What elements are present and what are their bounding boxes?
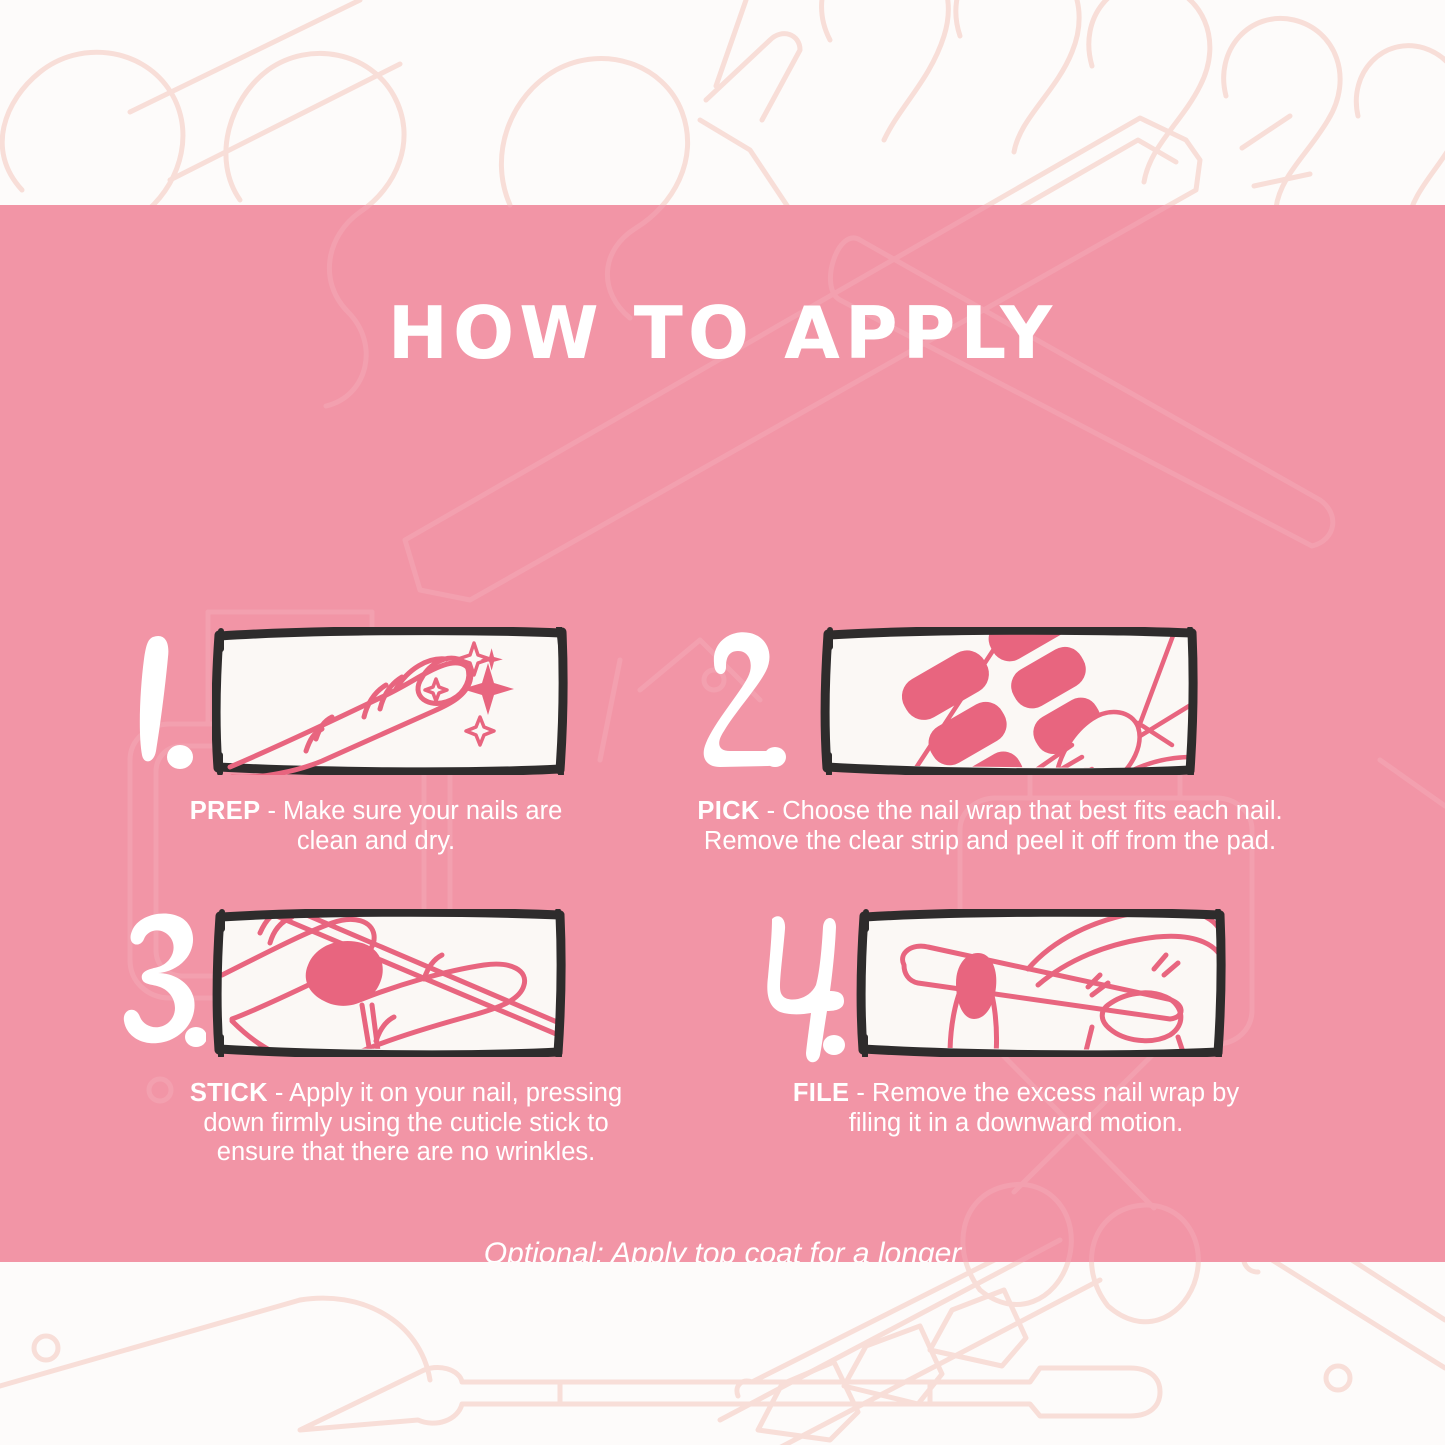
infographic-page: HOW TO APPLY: [0, 0, 1445, 1445]
step-3-caption: STICK - Apply it on your nail, pressing …: [165, 1079, 647, 1168]
step-1-keyword: PREP: [190, 797, 261, 825]
step-4-illustration-frame: [856, 909, 1228, 1057]
step-1-separator: -: [260, 797, 283, 825]
step-number-2: [700, 623, 786, 783]
step-2-illustration-frame: [820, 627, 1200, 775]
step-2-visual: [700, 623, 1300, 783]
page-title: HOW TO APPLY: [0, 297, 1445, 369]
step-2-text: Choose the nail wrap that best fits each…: [704, 797, 1283, 855]
step-4-visual: [760, 905, 1360, 1065]
step-3-separator: -: [268, 1079, 289, 1107]
step-3-keyword: STICK: [190, 1079, 268, 1107]
step-3-illustration-frame: [212, 909, 568, 1057]
step-number-4: [760, 905, 846, 1065]
optional-note: Optional: Apply top coat for a longer la…: [0, 1235, 1445, 1262]
step-card-3: STICK - Apply it on your nail, pressing …: [120, 905, 720, 1168]
step-card-2: PICK - Choose the nail wrap that best fi…: [700, 623, 1300, 856]
optional-note-line1: Optional: Apply top coat for a longer: [484, 1237, 962, 1262]
step-2-caption: PICK - Choose the nail wrap that best fi…: [690, 797, 1290, 856]
step-number-3: [120, 905, 206, 1065]
step-4-text: Remove the excess nail wrap by filing it…: [849, 1079, 1239, 1137]
step-4-separator: -: [849, 1079, 872, 1107]
step-1-visual: [120, 623, 720, 783]
step-1-caption: PREP - Make sure your nails are clean an…: [150, 797, 602, 856]
step-1-illustration-frame: [212, 627, 568, 775]
step-1-text: Make sure your nails are clean and dry.: [283, 797, 562, 855]
step-3-visual: [120, 905, 720, 1065]
step-card-1: PREP - Make sure your nails are clean an…: [120, 623, 720, 856]
step-2-keyword: PICK: [697, 797, 759, 825]
step-number-1: [120, 623, 206, 783]
step-card-4: FILE - Remove the excess nail wrap by fi…: [760, 905, 1360, 1138]
step-2-separator: -: [760, 797, 783, 825]
step-4-caption: FILE - Remove the excess nail wrap by fi…: [770, 1079, 1262, 1138]
pink-content-panel: HOW TO APPLY: [0, 205, 1445, 1262]
step-4-keyword: FILE: [793, 1079, 849, 1107]
